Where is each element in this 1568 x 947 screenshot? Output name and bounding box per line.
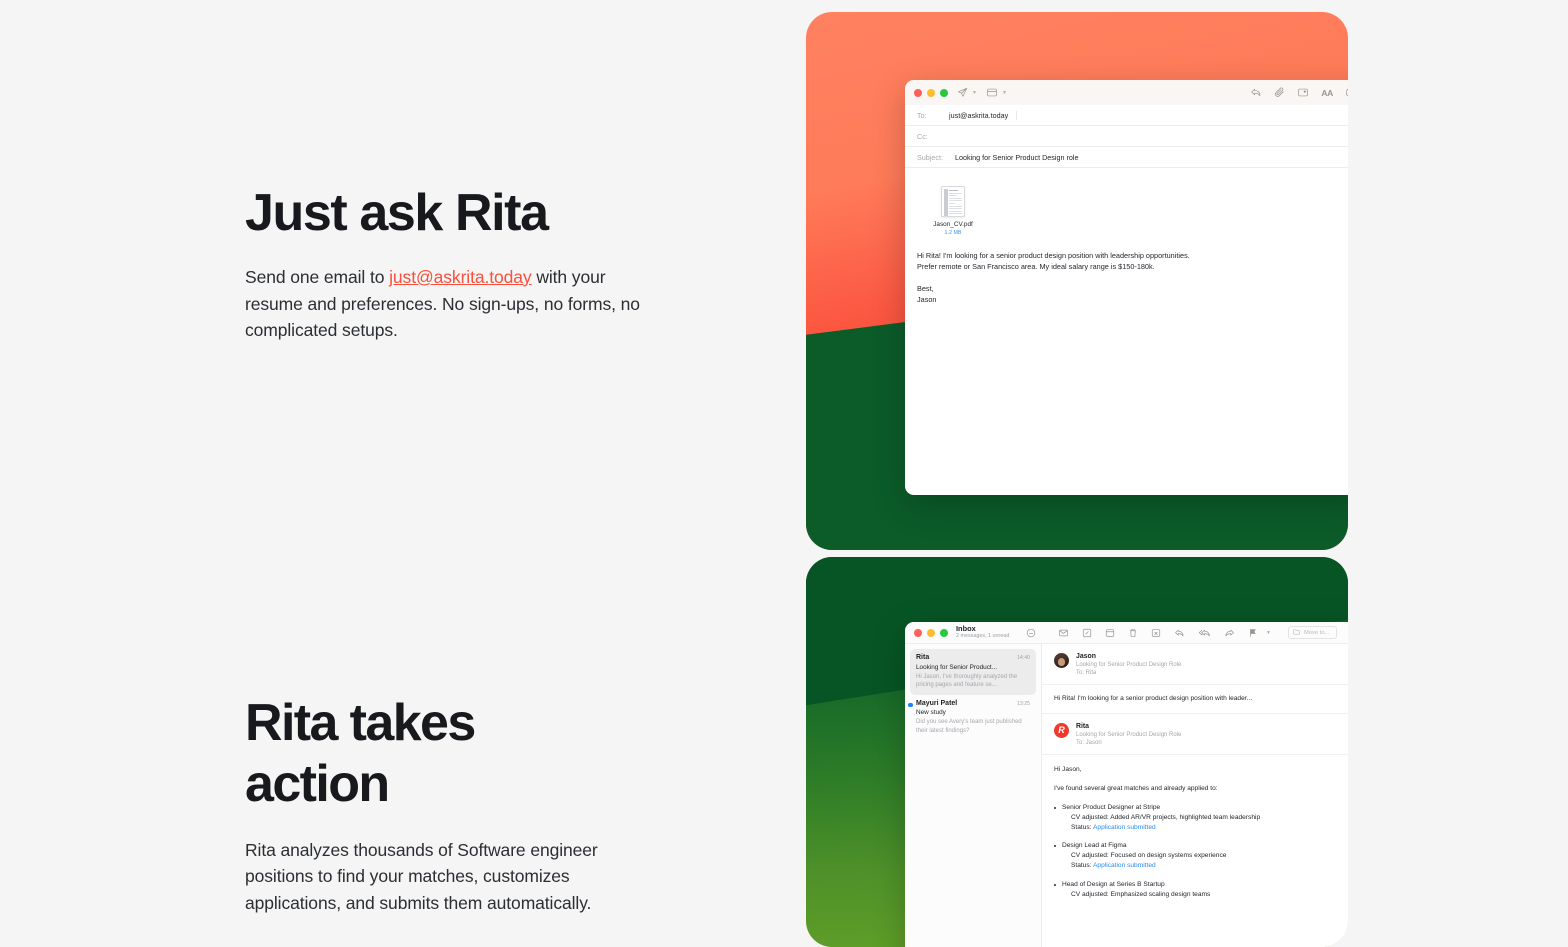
close-icon[interactable] [914, 89, 922, 97]
email-link[interactable]: just@askrita.today [389, 267, 531, 287]
junk-icon[interactable] [1151, 628, 1161, 638]
copy-column: Just ask Rita Send one email to just@ask… [0, 0, 804, 921]
job-match-item: Senior Product Designer at Stripe CV adj… [1054, 803, 1348, 833]
reply-greeting: Hi Jason, [1054, 765, 1348, 775]
inbox-title: Inbox [956, 625, 1009, 634]
avatar [1054, 653, 1069, 668]
reading-pane[interactable]: Jason Looking for Senior Product Design … [1042, 644, 1348, 947]
stationery-icon[interactable] [986, 87, 998, 98]
avatar: R [1054, 723, 1069, 738]
section-rita-takes-action: Rita takesaction Rita analyzes thousands… [245, 693, 655, 917]
thread-subject: Looking for Senior Product Design Role [1076, 662, 1181, 668]
compose-field-cc[interactable]: Cc: [905, 126, 1348, 147]
compose-line-2: Prefer remote or San Francisco area. My … [917, 261, 1348, 273]
job-title: Senior Product Designer at Stripe [1062, 803, 1348, 813]
move-to-label: Move to... [1304, 630, 1329, 636]
minimize-icon[interactable] [927, 89, 935, 97]
thread-recipient: To: Jason [1076, 740, 1181, 746]
attachment-filename: Jason_CV.pdf [927, 221, 979, 228]
compose-body[interactable]: Jason_CV.pdf 1.2 MB Hi Rita! I'm looking… [905, 168, 1348, 306]
cc-label: Cc: [917, 132, 951, 141]
message-preview: Did you see Avery's team just published … [916, 718, 1030, 735]
reply-icon[interactable] [1174, 628, 1185, 638]
card-inbox: Inbox 2 messages, 1 unread [806, 557, 1348, 947]
pdf-thumb-lines [949, 190, 962, 217]
thread-reply-body: Hi Jason, I've found several great match… [1042, 755, 1348, 900]
job-title: Head of Design at Series B Startup [1062, 880, 1348, 890]
job-cv-note: CV adjusted: Added AR/VR projects, highl… [1062, 813, 1348, 823]
job-title: Design Lead at Figma [1062, 841, 1348, 851]
status-label: Status: [1071, 824, 1093, 831]
compose-signature: Jason [917, 294, 1348, 306]
message-time: 13:25 [1017, 701, 1030, 707]
message-sender: Rita [916, 654, 929, 661]
job-status-row: Status: Application submitted [1062, 823, 1348, 833]
close-icon[interactable] [914, 629, 922, 637]
archive-icon[interactable] [1105, 628, 1115, 638]
status-badge[interactable]: Application submitted [1093, 862, 1156, 869]
list-item[interactable]: Rita 14:40 Looking for Senior Product...… [910, 649, 1036, 695]
list-item[interactable]: Mayuri Patel 13:25 New study Did you see… [910, 695, 1036, 741]
thread-message-header-rita: R Rita Looking for Senior Product Design… [1042, 714, 1348, 755]
thread-header-text: Rita Looking for Senior Product Design R… [1076, 723, 1181, 746]
maximize-icon[interactable] [940, 629, 948, 637]
inbox-window[interactable]: Inbox 2 messages, 1 unread [905, 622, 1348, 947]
message-subject: Looking for Senior Product... [916, 664, 1030, 671]
section-one-body: Send one email to just@askrita.today wit… [245, 264, 645, 344]
format-text-icon[interactable]: AA [1321, 88, 1333, 98]
compose-field-to[interactable]: To: just@askrita.today [905, 105, 1348, 126]
unread-indicator-icon [908, 703, 913, 708]
flag-icon[interactable] [1248, 628, 1258, 638]
message-preview: Hi Jason, I've thoroughly analyzed the p… [916, 673, 1030, 690]
move-to-button[interactable]: Move to... [1288, 626, 1337, 639]
cards-column: ▼ ▼ AA [804, 0, 1568, 921]
job-match-item: Design Lead at Figma CV adjusted: Focuse… [1054, 841, 1348, 871]
stationery-chevron-down-icon[interactable]: ▼ [1002, 90, 1007, 96]
subject-value[interactable]: Looking for Senior Product Design role [955, 153, 1078, 162]
compose-icon[interactable] [1082, 628, 1092, 638]
maximize-icon[interactable] [940, 89, 948, 97]
inbox-titles: Inbox 2 messages, 1 unread [956, 625, 1009, 641]
mark-unread-envelope-icon[interactable] [1058, 628, 1069, 638]
message-subject: New study [916, 709, 1030, 716]
inbox-header: Inbox 2 messages, 1 unread [905, 622, 1348, 644]
message-time: 14:40 [1017, 655, 1030, 661]
compose-blank-line [917, 273, 1348, 283]
job-cv-note: CV adjusted: Emphasized scaling design t… [1062, 890, 1348, 900]
message-list[interactable]: Rita 14:40 Looking for Senior Product...… [905, 644, 1042, 947]
message-sender: Mayuri Patel [916, 700, 957, 707]
inbox-toolbar: ▼ Move to... [1042, 626, 1348, 639]
section-just-ask-rita: Just ask Rita Send one email to just@ask… [245, 183, 645, 344]
job-cv-note: CV adjusted: Focused on design systems e… [1062, 851, 1348, 861]
markup-photo-icon[interactable] [1297, 87, 1309, 98]
status-badge[interactable]: Application submitted [1093, 824, 1156, 831]
page-title: Just ask Rita [245, 183, 645, 244]
attachment-item[interactable]: Jason_CV.pdf 1.2 MB [927, 186, 979, 236]
thread-header-text: Jason Looking for Senior Product Design … [1076, 653, 1181, 676]
compose-toolbar: ▼ ▼ AA [905, 80, 1348, 105]
subject-label: Subject: [917, 153, 955, 162]
to-label: To: [917, 111, 951, 120]
paperclip-icon[interactable] [1274, 87, 1285, 98]
thread-sender-name: Rita [1076, 723, 1181, 730]
reply-all-icon[interactable] [1198, 628, 1211, 638]
compose-line-1: Hi Rita! I'm looking for a senior produc… [917, 250, 1348, 262]
filter-smiley-icon[interactable] [1026, 628, 1036, 638]
send-chevron-down-icon[interactable]: ▼ [972, 90, 977, 96]
pdf-document-icon [941, 186, 965, 217]
compose-signoff: Best, [917, 283, 1348, 295]
inbox-message-count: 2 messages, 1 unread [956, 633, 1009, 640]
message-meta-row: Mayuri Patel 13:25 [916, 700, 1030, 707]
flag-chevron-down-icon[interactable]: ▼ [1266, 630, 1271, 636]
attachment-size: 1.2 MB [927, 230, 979, 236]
compose-field-subject[interactable]: Subject: Looking for Senior Product Desi… [905, 147, 1348, 168]
thread-subject: Looking for Senior Product Design Role [1076, 732, 1181, 738]
reply-arrow-icon[interactable] [1250, 87, 1262, 98]
forward-icon[interactable] [1224, 628, 1235, 638]
card-compose: ▼ ▼ AA [806, 12, 1348, 550]
to-value[interactable]: just@askrita.today [949, 111, 1017, 120]
inbox-header-left: Inbox 2 messages, 1 unread [905, 625, 1042, 641]
send-paper-plane-icon[interactable] [957, 87, 968, 98]
folder-icon [1293, 629, 1300, 637]
minimize-icon[interactable] [927, 629, 935, 637]
compose-window[interactable]: ▼ ▼ AA [905, 80, 1348, 495]
job-status-row: Status: Application submitted [1062, 861, 1348, 871]
delete-trash-icon[interactable] [1128, 628, 1138, 638]
thread-message-header-jason: Jason Looking for Senior Product Design … [1042, 644, 1348, 685]
status-label: Status: [1071, 862, 1093, 869]
compose-message-text[interactable]: Hi Rita! I'm looking for a senior produc… [917, 250, 1348, 306]
inbox-body: Rita 14:40 Looking for Senior Product...… [905, 644, 1348, 947]
compose-toolbar-right: AA [1250, 87, 1348, 98]
section-two-title: Rita takesaction [245, 693, 655, 815]
window-traffic-lights[interactable] [914, 89, 948, 97]
inbox-traffic-lights[interactable] [914, 629, 948, 637]
section-two-title-line1: Rita takes [245, 694, 475, 752]
section-two-body: Rita analyzes thousands of Software engi… [245, 837, 655, 917]
thread-snippet: Hi Rita! I'm looking for a senior produc… [1042, 685, 1348, 714]
body-text-before-link: Send one email to [245, 267, 389, 287]
reply-intro: I've found several great matches and alr… [1054, 784, 1348, 794]
thread-recipient: To: Rita [1076, 670, 1181, 676]
thread-sender-name: Jason [1076, 653, 1181, 660]
emoji-icon[interactable] [1345, 87, 1348, 98]
message-meta-row: Rita 14:40 [916, 654, 1030, 661]
section-two-title-line2: action [245, 755, 389, 813]
job-match-item: Head of Design at Series B Startup CV ad… [1054, 880, 1348, 900]
